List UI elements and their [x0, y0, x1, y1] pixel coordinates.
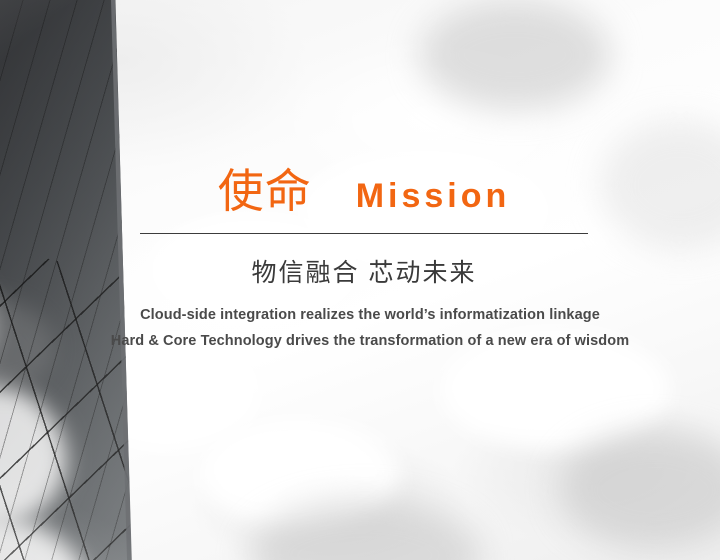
page-title-english: Mission — [356, 179, 511, 213]
subtitle-english-block: Cloud-side integration realizes the worl… — [60, 302, 680, 354]
banner-content: 使命 Mission 物信融合 芯动未来 Cloud-side integrat… — [0, 0, 720, 560]
mission-banner: 使命 Mission 物信融合 芯动未来 Cloud-side integrat… — [0, 0, 720, 560]
title-divider-rule — [140, 233, 588, 234]
subtitle-english-line-1: Cloud-side integration realizes the worl… — [60, 302, 680, 328]
subtitle-english-line-2: Hard & Core Technology drives the transf… — [60, 328, 680, 354]
page-title-chinese: 使命 — [218, 168, 312, 214]
subtitle-chinese: 物信融合 芯动未来 — [140, 258, 588, 288]
page-title: 使命 Mission — [140, 168, 588, 214]
